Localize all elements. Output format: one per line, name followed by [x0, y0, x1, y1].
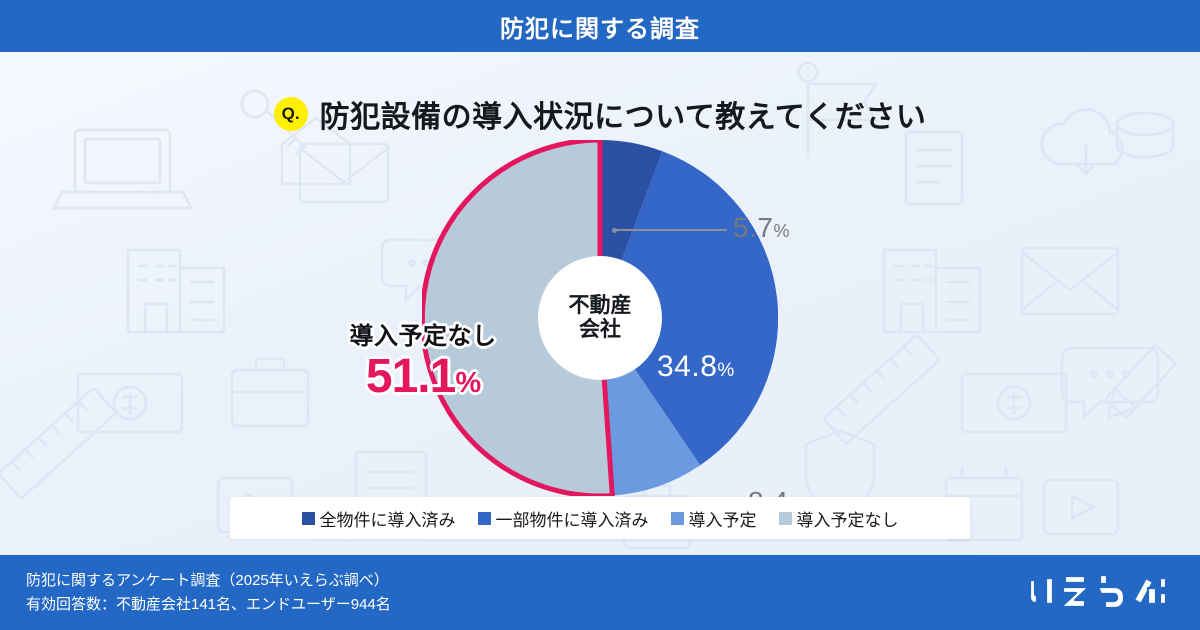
- legend-item-planned[interactable]: 導入予定: [671, 506, 757, 531]
- chart-legend: 全物件に導入済み 一部物件に導入済み 導入予定 導入予定なし: [230, 497, 970, 539]
- logo-icon: [1024, 570, 1174, 616]
- legend-label: 一部物件に導入済み: [496, 506, 649, 531]
- slice-label-all-installed: 5.7%: [733, 212, 790, 244]
- ierabu-logo[interactable]: [1024, 570, 1174, 616]
- legend-item-all-installed[interactable]: 全物件に導入済み: [302, 506, 456, 531]
- legend-label: 全物件に導入済み: [320, 506, 456, 531]
- legend-swatch-icon: [302, 512, 315, 525]
- legend-item-partial-installed[interactable]: 一部物件に導入済み: [478, 506, 649, 531]
- page-header: 防犯に関する調査: [0, 0, 1200, 52]
- legend-swatch-icon: [478, 512, 491, 525]
- footer-line-2: 有効回答数：不動産会社141名、エンドユーザー944名: [26, 593, 391, 616]
- legend-label: 導入予定なし: [797, 506, 899, 531]
- highlight-name: 導入予定なし: [318, 316, 528, 351]
- question-row: Q. 防犯設備の導入状況について教えてください: [0, 86, 1200, 142]
- slice-unit-all-installed: %: [773, 221, 790, 241]
- slice-label-partial-installed: 34.8%: [657, 350, 735, 384]
- footer-source: 防犯に関するアンケート調査（2025年いえらぶ調べ） 有効回答数：不動産会社14…: [26, 569, 391, 616]
- legend-label: 導入予定: [689, 506, 757, 531]
- slice-value-all-installed: 5.7: [733, 212, 773, 243]
- page-title: 防犯に関する調査: [500, 9, 700, 44]
- legend-swatch-icon: [671, 512, 684, 525]
- legend-item-not-planned[interactable]: 導入予定なし: [779, 506, 899, 531]
- highlight-value-group: 51.1%: [318, 349, 528, 404]
- center-label-line1: 不動産: [569, 294, 632, 318]
- donut-center-label: 不動産 会社: [538, 256, 662, 380]
- question-text: 防犯設備の導入状況について教えてください: [320, 92, 927, 136]
- legend-swatch-icon: [779, 512, 792, 525]
- footer-line-1: 防犯に関するアンケート調査（2025年いえらぶ調べ）: [26, 569, 391, 592]
- leader-line-all-installed: [615, 229, 727, 231]
- slice-unit-partial-installed: %: [717, 360, 734, 381]
- highlight-callout: 導入予定なし 51.1%: [318, 316, 528, 404]
- highlight-value: 51.1: [366, 350, 455, 403]
- highlight-unit: %: [455, 367, 480, 399]
- center-label-line2: 会社: [579, 318, 621, 342]
- slice-value-partial-installed: 34.8: [657, 350, 717, 383]
- infographic-canvas: 防犯に関する調査: [0, 0, 1200, 630]
- question-badge: Q.: [274, 97, 308, 131]
- page-footer: 防犯に関するアンケート調査（2025年いえらぶ調べ） 有効回答数：不動産会社14…: [0, 555, 1200, 630]
